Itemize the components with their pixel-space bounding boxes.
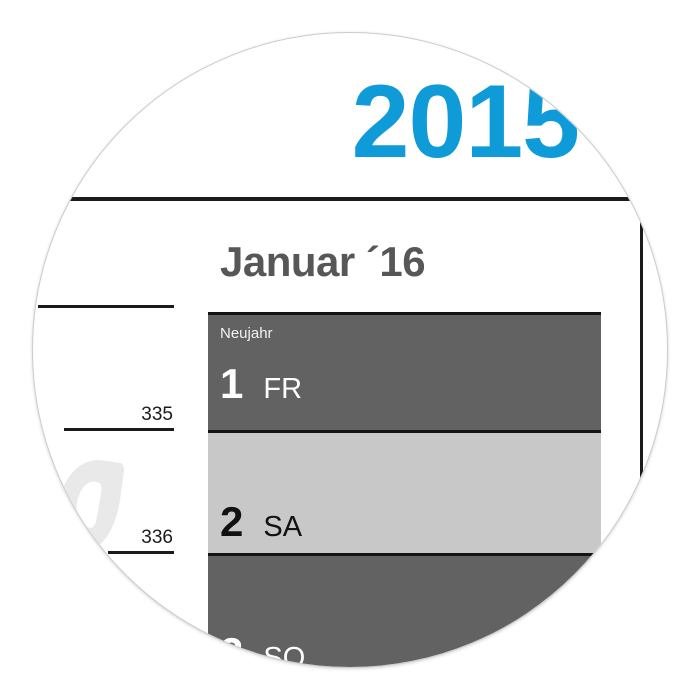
- day-of-year-rule-middle: [64, 428, 174, 431]
- day-rows-list: Neujahr 1 FR 2 SA 3: [208, 312, 601, 668]
- day-of-year-rule-top: [38, 305, 174, 308]
- day-row[interactable]: 2 SA: [208, 430, 601, 553]
- day-number: 3: [220, 632, 243, 668]
- month-heading: Januar ´16: [220, 241, 425, 283]
- day-line: 3 SO: [220, 632, 305, 668]
- weekday-abbreviation: SO: [263, 644, 305, 668]
- weekday-abbreviation: SA: [263, 513, 302, 542]
- day-row[interactable]: Neujahr 1 FR: [208, 312, 601, 430]
- day-number: 1: [220, 363, 243, 405]
- right-border-rule: [640, 201, 643, 668]
- day-of-year-number: 335: [61, 405, 173, 424]
- day-line: 1 FR: [220, 363, 302, 405]
- day-line: 2 SA: [220, 501, 302, 543]
- day-of-year-rule-bottom: [108, 551, 174, 554]
- weekday-abbreviation: FR: [263, 375, 302, 404]
- day-number: 2: [220, 501, 243, 543]
- sticker-content: 2015 335 336 Januar ´16 Neujahr 1 FR: [32, 32, 668, 668]
- day-row[interactable]: 3 SO: [208, 553, 601, 668]
- round-calendar-sticker: 2015 335 336 Januar ´16 Neujahr 1 FR: [32, 32, 668, 668]
- day-of-year-column: 335 336: [32, 32, 201, 668]
- day-of-year-number: 336: [61, 528, 173, 547]
- screenshot-canvas: 2015 335 336 Januar ´16 Neujahr 1 FR: [0, 0, 700, 700]
- holiday-label: Neujahr: [220, 326, 273, 341]
